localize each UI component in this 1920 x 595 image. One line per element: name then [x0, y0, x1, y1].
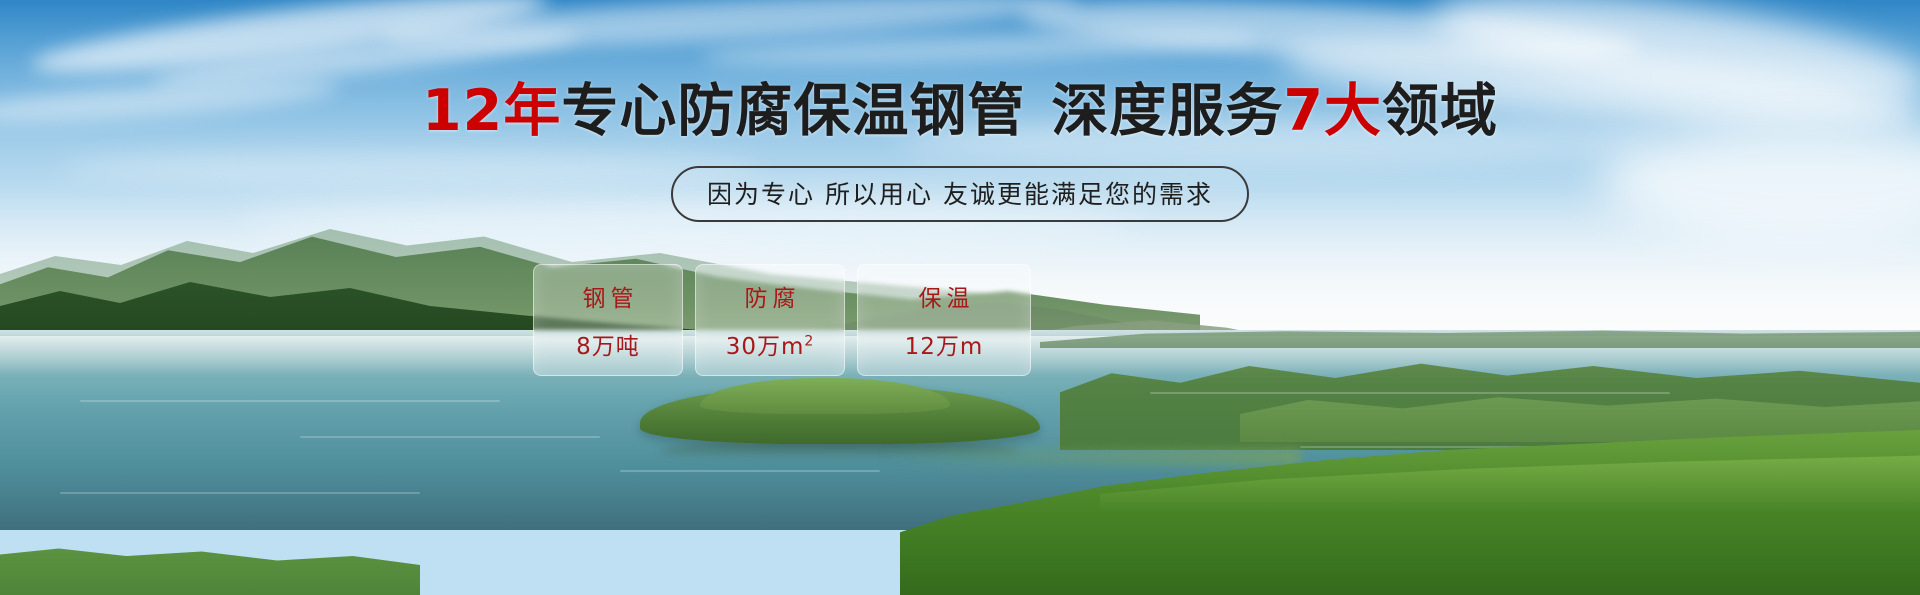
headline-fields: 领域 — [1382, 78, 1498, 144]
subtitle-row: 因为专心 所以用心 友诚更能满足您的需求 — [0, 166, 1920, 222]
page-title: 12年专心防腐保温钢管深度服务7大领域 — [0, 83, 1920, 140]
stat-value-text: 30万m — [726, 334, 805, 360]
headline-main: 专心防腐保温钢管 — [561, 78, 1025, 144]
stat-card-title: 保温 — [914, 279, 975, 313]
hero-banner: 12年专心防腐保温钢管深度服务7大领域 因为专心 所以用心 友诚更能满足您的需求… — [0, 0, 1920, 595]
stat-card-value: 12万m — [905, 327, 984, 361]
stat-card-value: 8万吨 — [576, 327, 640, 361]
stat-card-title: 防腐 — [740, 279, 801, 313]
stat-value-text: 12万m — [905, 334, 984, 360]
headline-years: 12年 — [422, 78, 561, 144]
stat-card-steel-pipe: 钢管 8万吨 — [533, 264, 683, 376]
subtitle-pill: 因为专心 所以用心 友诚更能满足您的需求 — [671, 166, 1249, 222]
stat-card-list: 钢管 8万吨 防腐 30万m2 保温 12万m — [533, 264, 1031, 376]
stat-value-text: 8万吨 — [576, 334, 640, 360]
banner-content: 12年专心防腐保温钢管深度服务7大领域 因为专心 所以用心 友诚更能满足您的需求… — [0, 0, 1920, 595]
stat-card-anticorrosion: 防腐 30万m2 — [695, 264, 845, 376]
headline-service: 深度服务 — [1051, 78, 1283, 144]
stat-value-superscript: 2 — [804, 333, 814, 349]
headline-fields-count: 7大 — [1283, 78, 1382, 144]
stat-card-title: 钢管 — [578, 279, 639, 313]
stat-card-insulation: 保温 12万m — [857, 264, 1031, 376]
stat-card-value: 30万m2 — [726, 327, 815, 361]
